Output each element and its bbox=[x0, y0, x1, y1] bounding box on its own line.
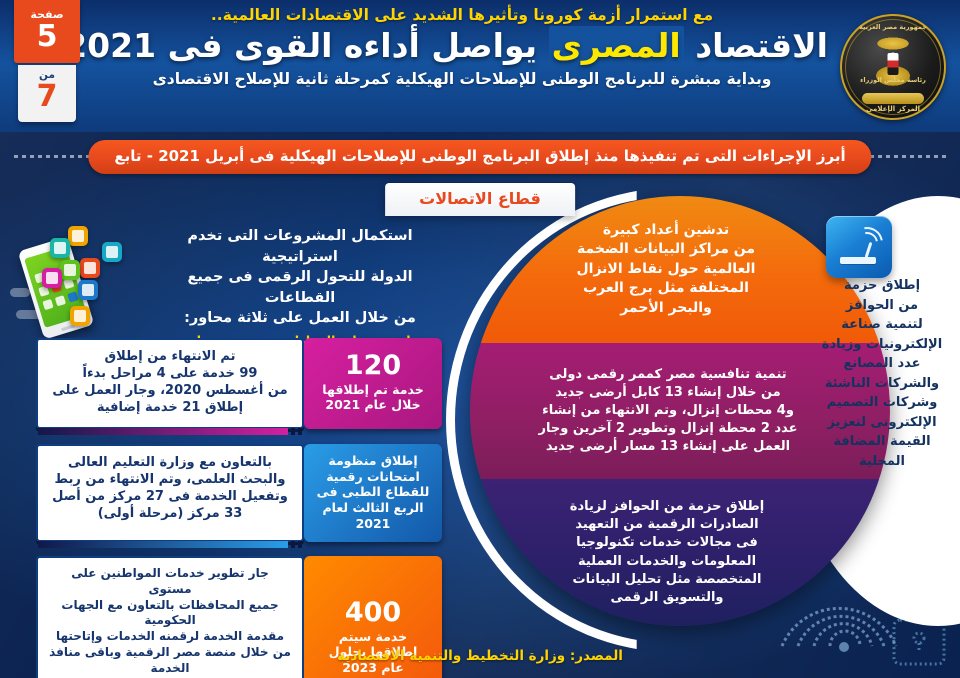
right-line: الإلكترونيات وزيادة bbox=[810, 335, 954, 355]
card-2-underbar bbox=[38, 541, 302, 548]
page-number: 5 bbox=[14, 22, 80, 52]
card-1-underbar bbox=[38, 428, 302, 435]
headline-part-2: يواصل أداءه القوى فى 2021 bbox=[64, 26, 537, 65]
right-line: من الحوافز bbox=[810, 296, 954, 316]
seg3-line: فى مجالات خدمات تكنولوجيا bbox=[570, 534, 764, 552]
underbar-tick bbox=[298, 541, 302, 548]
emblem-top-text: جمهورية مصر العربية bbox=[840, 23, 946, 31]
right-line: والشركات الناشئة bbox=[810, 374, 954, 394]
page-badge: صفحة 5 من 7 bbox=[14, 0, 80, 122]
seg1-line: والبحر الأحمر bbox=[577, 299, 756, 319]
intro-white-line: الدولة للتحول الرقمى فى جميع القطاعات bbox=[150, 267, 450, 308]
infographic-canvas: جمهورية مصر العربية رئاسة مجلس الوزراء ا… bbox=[0, 0, 960, 678]
card-2-line: 33 مركز (مرحلة أولى) bbox=[48, 505, 292, 522]
wifi-router-icon bbox=[826, 216, 892, 278]
card-1-stat: 120 خدمة تم إطلاقها خلال عام 2021 bbox=[304, 338, 442, 429]
intro-white-line: استكمال المشروعات التى تخدم استراتيجية bbox=[150, 226, 450, 267]
seg2-line: عدد 2 محطة إنزال وتطوير 2 آخرين وجار bbox=[538, 420, 797, 438]
right-line: المحلية bbox=[810, 452, 954, 472]
seg2-line: و4 محطات إنزال، وتم الانتهاء من إنشاء bbox=[538, 402, 797, 420]
app-tile-icon bbox=[50, 238, 70, 258]
app-tile-icon bbox=[42, 268, 62, 288]
emblem-scroll bbox=[862, 93, 924, 104]
header-subtitle: وبداية مبشرة للبرنامج الوطنى للإصلاحات ا… bbox=[96, 70, 828, 89]
right-line: لتنمية صناعة bbox=[810, 315, 954, 335]
government-emblem: جمهورية مصر العربية رئاسة مجلس الوزراء ا… bbox=[840, 14, 946, 120]
underbar-tick bbox=[291, 541, 295, 548]
right-incentives-text: إطلاق حزمة من الحوافز لتنمية صناعة الإلك… bbox=[810, 276, 954, 471]
seg1-line: تدشين أعداد كبيرة bbox=[577, 221, 756, 241]
card-2-line: بالتعاون مع وزارة التعليم العالى bbox=[48, 454, 292, 471]
card-2-line: والبحث العلمى، وتم الانتهاء من ربط bbox=[48, 471, 292, 488]
card-1-line: من أغسطس 2020، وجار العمل على bbox=[48, 382, 292, 399]
intro-white-line: من خلال العمل على ثلاثة محاور: bbox=[150, 308, 450, 329]
card-1-stat-caption: خلال عام 2021 bbox=[310, 397, 436, 413]
app-tile-icon bbox=[60, 260, 80, 280]
page-badge-top: صفحة 5 bbox=[14, 0, 80, 63]
seg3-line: الصادرات الرقمية من التعهيد bbox=[570, 516, 764, 534]
card-3-line: جار تطوير خدمات المواطنين على مستوى bbox=[48, 566, 292, 598]
right-line: إطلاق حزمة bbox=[810, 276, 954, 296]
card-medical-exams: إطلاق منظومة امتحانات رقمية للقطاع الطبى… bbox=[36, 444, 448, 542]
underbar-tick bbox=[291, 428, 295, 435]
app-tile-icon bbox=[70, 306, 90, 326]
right-line: الإلكترونى لتعزيز bbox=[810, 413, 954, 433]
card-1-stat-number: 120 bbox=[310, 352, 436, 379]
card-2-stat-caption: إطلاق منظومة bbox=[310, 453, 436, 469]
seg2-line: تنمية تنافسية مصر كممر رقمى دولى bbox=[538, 366, 797, 384]
card-2-stat-caption: الربع الثالث لعام 2021 bbox=[310, 500, 436, 531]
seg1-line: من مراكز البيانات الضخمة bbox=[577, 240, 756, 260]
seg3-line: والتسويق الرقمى bbox=[570, 589, 764, 607]
headline-part-1: الاقتصاد bbox=[695, 26, 828, 65]
card-2-stat-caption: للقطاع الطبى فى bbox=[310, 484, 436, 500]
seg1-line: العالمية حول نقاط الانزال bbox=[577, 260, 756, 280]
header: جمهورية مصر العربية رئاسة مجلس الوزراء ا… bbox=[0, 0, 960, 132]
section-ribbon: أبرز الإجراءات التى تم تنفيذها منذ إطلاق… bbox=[88, 140, 871, 174]
emblem-bottom-text: المركز الإعلامى bbox=[840, 105, 946, 113]
page-title: الاقتصاد المصرى يواصل أداءه القوى فى 202… bbox=[96, 27, 828, 65]
card-3-stat-number: 400 bbox=[310, 599, 436, 626]
card-1-line: تم الانتهاء من إطلاق bbox=[48, 348, 292, 365]
app-tile-icon bbox=[68, 226, 88, 246]
card-3-stat-caption: خدمة سيتم bbox=[310, 629, 436, 645]
app-tile-icon bbox=[80, 258, 100, 278]
right-line: عدد المصانع bbox=[810, 354, 954, 374]
card-2-stat-caption: امتحانات رقمية bbox=[310, 469, 436, 485]
card-2-stat: إطلاق منظومة امتحانات رقمية للقطاع الطبى… bbox=[304, 444, 442, 542]
card-1-body: تم الانتهاء من إطلاق 99 خدمة على 4 مراحل… bbox=[36, 338, 304, 429]
card-2-body: بالتعاون مع وزارة التعليم العالى والبحث … bbox=[36, 444, 304, 542]
smartphone-illustration bbox=[6, 224, 166, 344]
card-1-line: 99 خدمة على 4 مراحل بدءاً bbox=[48, 365, 292, 382]
card-2-line: وتفعيل الخدمة فى 27 مركز من أصل bbox=[48, 488, 292, 505]
card-1-stat-caption: خدمة تم إطلاقها bbox=[310, 382, 436, 398]
underbar-gradient bbox=[38, 428, 288, 435]
app-tile-icon bbox=[102, 242, 122, 262]
seg3-line: المتخصصة مثل تحليل البيانات bbox=[570, 571, 764, 589]
total-pages: 7 bbox=[18, 82, 76, 112]
page-badge-bottom: من 7 bbox=[18, 65, 76, 122]
header-text-block: مع استمرار أزمة كورونا وتأثيرها الشديد ع… bbox=[96, 6, 828, 89]
wifi-signal-decoration bbox=[772, 546, 902, 656]
underbar-gradient bbox=[38, 541, 288, 548]
cloud-shape bbox=[10, 288, 30, 297]
card-3-line: مقدمة الخدمة لرقمنه الخدمات وإتاحتها bbox=[48, 629, 292, 645]
card-services-2021: 120 خدمة تم إطلاقها خلال عام 2021 تم الا… bbox=[36, 338, 448, 429]
emblem-mid-text: رئاسة مجلس الوزراء bbox=[840, 76, 946, 84]
right-line: القيمة المضافة bbox=[810, 432, 954, 452]
card-3-line: جميع المحافظات بالتعاون مع الجهات الحكوم… bbox=[48, 598, 292, 630]
card-1-line: إطلاق 21 خدمة إضافية bbox=[48, 399, 292, 416]
seg3-line: إطلاق حزمة من الحوافز لزيادة bbox=[570, 498, 764, 516]
right-line: وشركات التصميم bbox=[810, 393, 954, 413]
app-tile-icon bbox=[78, 280, 98, 300]
source-note: المصدر: وزارة التخطيط والتنمية الاقتصادي… bbox=[0, 648, 960, 664]
underbar-tick bbox=[298, 428, 302, 435]
seg3-line: المعلومات والخدمات العملية bbox=[570, 553, 764, 571]
seg1-line: المختلفة مثل برج العرب bbox=[577, 279, 756, 299]
headline-highlight: المصرى bbox=[549, 26, 684, 65]
header-kicker: مع استمرار أزمة كورونا وتأثيرها الشديد ع… bbox=[96, 6, 828, 25]
seg2-line: من خلال إنشاء 13 كابل أرضى جديد bbox=[538, 384, 797, 402]
seg2-line: العمل على إنشاء 13 مسار أرضى جديد bbox=[538, 438, 797, 456]
sector-tab-telecom: قطاع الاتصالات bbox=[385, 183, 575, 216]
